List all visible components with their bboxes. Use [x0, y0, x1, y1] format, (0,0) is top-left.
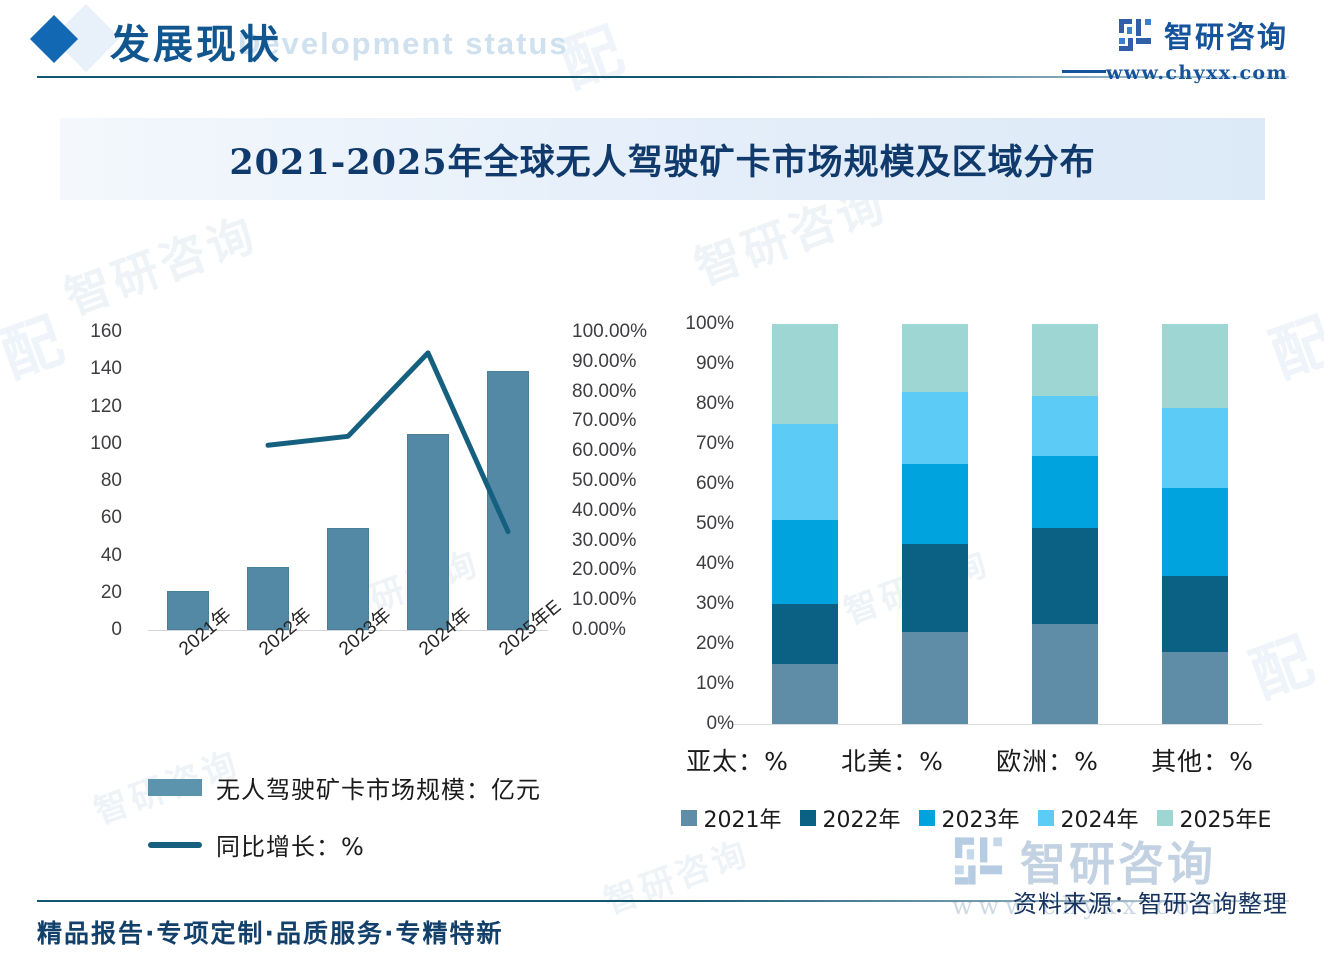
- legend-swatch-icon: [1157, 810, 1173, 826]
- brand-name: 智研咨询: [1164, 14, 1288, 56]
- footer-tagline: 精品报告·专项定制·品质服务·专精特新: [37, 914, 504, 950]
- legend-swatch-icon: [1038, 810, 1054, 826]
- bar-segment: [902, 632, 968, 724]
- chart-title: 2021-2025年全球无人驾驶矿卡市场规模及区域分布: [60, 118, 1265, 200]
- stacked-bar: [1032, 324, 1098, 724]
- bar-segment: [1162, 408, 1228, 488]
- bar-segment: [1162, 488, 1228, 576]
- x-tick-label: 其他：%: [1125, 742, 1280, 778]
- x-tick-label: 欧洲：%: [970, 742, 1125, 778]
- y-tick-label: 10%: [660, 673, 734, 695]
- y-tick-label: 20%: [660, 633, 734, 655]
- y-tick-label: 50%: [660, 513, 734, 535]
- y-tick-label: 80: [52, 470, 122, 492]
- y-tick-label: 100%: [660, 313, 734, 335]
- y-tick-label: 90%: [660, 353, 734, 375]
- bar-segment: [772, 424, 838, 520]
- right-chart-x-axis: 亚太：%北美：%欧洲：%其他：%: [660, 742, 1280, 778]
- legend-label: 2025年E: [1180, 802, 1272, 834]
- legend-item[interactable]: 2022年: [800, 802, 901, 834]
- legend-label: 2022年: [823, 802, 901, 834]
- brand-logo[interactable]: 智研咨询 www.chyxx.com: [1106, 14, 1288, 84]
- secondary-y-tick-label: 20.00%: [572, 559, 672, 581]
- y-tick-label: 160: [52, 321, 122, 343]
- page-header: Development status 发展现状 智研咨询 www.chyxx.c: [0, 0, 1324, 100]
- source-note: 资料来源：智研咨询整理: [1013, 884, 1288, 919]
- secondary-y-tick-label: 100.00%: [572, 321, 672, 343]
- right-chart-plot-area: [740, 324, 1260, 724]
- right-chart-baseline: [732, 724, 1262, 725]
- chyxx-logo-icon: [1117, 16, 1155, 54]
- legend-label: 2024年: [1061, 802, 1139, 834]
- bar-segment: [1162, 576, 1228, 652]
- chyxx-watermark-icon: [952, 833, 1008, 889]
- page-title: 发展现状: [110, 12, 282, 70]
- secondary-y-tick-label: 80.00%: [572, 381, 672, 403]
- left-chart-legend: 无人驾驶矿卡市场规模：亿元 同比增长：%: [148, 770, 541, 884]
- secondary-y-tick-label: 10.00%: [572, 589, 672, 611]
- bar-segment: [1032, 324, 1098, 396]
- secondary-y-tick-label: 60.00%: [572, 440, 672, 462]
- bar-segment: [1162, 652, 1228, 724]
- y-tick-label: 80%: [660, 393, 734, 415]
- y-tick-label: 140: [52, 358, 122, 380]
- legend-item-growth[interactable]: 同比增长：%: [148, 827, 541, 862]
- legend-item[interactable]: 2025年E: [1157, 802, 1272, 834]
- secondary-y-tick-label: 40.00%: [572, 500, 672, 522]
- y-tick-label: 100: [52, 433, 122, 455]
- legend-swatch-icon: [800, 810, 816, 826]
- legend-label: 2023年: [942, 802, 1020, 834]
- regional-distribution-chart: 0%10%20%30%40%50%60%70%80%90%100%: [660, 312, 1300, 732]
- growth-rate-line: [148, 332, 548, 630]
- header-subtitle-ghost: Development status: [238, 26, 569, 62]
- stacked-bar: [772, 324, 838, 724]
- chart-title-band: 2021-2025年全球无人驾驶矿卡市场规模及区域分布: [60, 118, 1265, 200]
- secondary-y-tick-label: 0.00%: [572, 619, 672, 641]
- secondary-y-tick-label: 30.00%: [572, 530, 672, 552]
- secondary-y-tick-label: 70.00%: [572, 410, 672, 432]
- bar-segment: [902, 324, 968, 392]
- legend-item-market-size[interactable]: 无人驾驶矿卡市场规模：亿元: [148, 770, 541, 805]
- secondary-y-tick-label: 50.00%: [572, 470, 672, 492]
- stacked-bar: [902, 324, 968, 724]
- y-tick-label: 60%: [660, 473, 734, 495]
- bar-segment: [902, 544, 968, 632]
- legend-label: 同比增长：%: [216, 827, 365, 862]
- x-tick-label: 北美：%: [815, 742, 970, 778]
- bar-segment: [1032, 456, 1098, 528]
- header-divider: [37, 76, 1289, 78]
- bar-segment: [1032, 396, 1098, 456]
- stacked-bar: [1162, 324, 1228, 724]
- legend-item[interactable]: 2023年: [919, 802, 1020, 834]
- bar-segment: [1032, 624, 1098, 724]
- legend-swatch-icon: [919, 810, 935, 826]
- y-tick-label: 70%: [660, 433, 734, 455]
- y-tick-label: 30%: [660, 593, 734, 615]
- bar-segment: [772, 520, 838, 604]
- bar-segment: [902, 392, 968, 464]
- right-chart-legend: 2021年2022年2023年2024年2025年E: [672, 802, 1280, 834]
- bar-segment: [902, 464, 968, 544]
- y-tick-label: 60: [52, 507, 122, 529]
- bar-segment: [772, 604, 838, 664]
- legend-swatch-icon: [681, 810, 697, 826]
- legend-item[interactable]: 2024年: [1038, 802, 1139, 834]
- secondary-y-tick-label: 90.00%: [572, 351, 672, 373]
- x-tick-label: 亚太：%: [660, 742, 815, 778]
- brand-url: www.chyxx.com: [1106, 62, 1288, 84]
- bar-segment: [1032, 528, 1098, 624]
- y-tick-label: 120: [52, 396, 122, 418]
- bar-segment: [772, 664, 838, 724]
- line-swatch-icon: [148, 842, 202, 848]
- bar-segment: [772, 324, 838, 424]
- brand-url-rule: [1062, 70, 1106, 73]
- bar-segment: [1162, 324, 1228, 408]
- legend-label: 2021年: [704, 802, 782, 834]
- y-tick-label: 20: [52, 582, 122, 604]
- y-tick-label: 40: [52, 545, 122, 567]
- y-tick-label: 0%: [660, 713, 734, 735]
- y-tick-label: 0: [52, 619, 122, 641]
- y-tick-label: 40%: [660, 553, 734, 575]
- legend-item[interactable]: 2021年: [681, 802, 782, 834]
- legend-label: 无人驾驶矿卡市场规模：亿元: [216, 770, 541, 805]
- bar-swatch-icon: [148, 779, 202, 796]
- market-size-growth-chart: 0204060801001201401600.00%10.00%20.00%30…: [30, 318, 650, 658]
